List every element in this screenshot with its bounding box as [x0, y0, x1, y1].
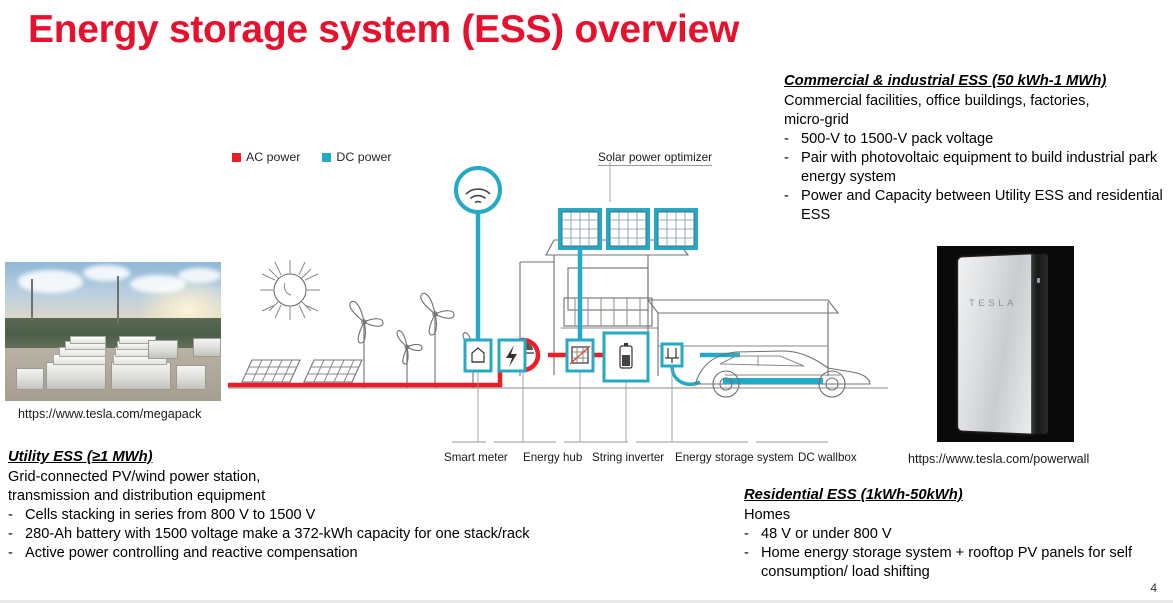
wifi-optimizer-icon — [456, 168, 500, 212]
bullet-text: Home energy storage system + rooftop PV … — [761, 544, 1144, 582]
battery-pack — [70, 336, 107, 344]
page-number: 4 — [1150, 581, 1157, 595]
transformer-unit — [176, 365, 206, 391]
cloud — [18, 270, 83, 292]
battery-pack — [111, 362, 171, 390]
bullet-text: 280-Ah battery with 1500 voltage make a … — [25, 525, 608, 544]
commercial-ess-block: Commercial & industrial ESS (50 kWh-1 MW… — [784, 72, 1173, 225]
utility-pole — [31, 279, 33, 321]
tesla-wordmark: TESLA — [969, 298, 1017, 309]
residential-ess-bullet: - 48 V or under 800 V — [744, 525, 1144, 544]
transformer-unit — [16, 368, 44, 391]
residential-ess-line: Homes — [744, 506, 1144, 525]
callout-dc-wallbox: DC wallbox — [798, 451, 857, 464]
bullet-text: Active power controlling and reactive co… — [25, 544, 608, 563]
utility-ess-heading: Utility ESS (≥1 MWh) — [8, 448, 608, 467]
powerwall-photo: TESLA — [937, 246, 1074, 442]
megapack-photo — [5, 262, 221, 401]
status-led — [1037, 278, 1040, 283]
transformer-unit — [148, 340, 178, 359]
battery-pack — [46, 362, 106, 390]
electric-car — [696, 351, 870, 397]
bullet-text: Pair with photovoltaic equipment to buil… — [801, 149, 1173, 187]
powerwall-caption: https://www.tesla.com/powerwall — [908, 452, 1089, 466]
utility-ess-line: transmission and distribution equipment — [8, 487, 608, 506]
commercial-ess-line: Commercial facilities, office buildings,… — [784, 92, 1173, 111]
energy-hub-icon — [465, 340, 491, 371]
dc-wallbox-icon — [662, 344, 682, 366]
commercial-ess-bullet: - Power and Capacity between Utility ESS… — [784, 187, 1173, 225]
callout-energy-storage-system: Energy storage system — [675, 451, 794, 464]
bullet-text: Power and Capacity between Utility ESS a… — [801, 187, 1173, 225]
string-inverter-icon — [499, 340, 525, 371]
bullet-marker: - — [784, 130, 793, 149]
bullet-text: 48 V or under 800 V — [761, 525, 1144, 544]
bullet-text: Cells stacking in series from 800 V to 1… — [25, 506, 608, 525]
utility-ess-line: Grid-connected PV/wind power station, — [8, 468, 608, 487]
cloud — [83, 265, 131, 282]
slide-canvas: Energy storage system (ESS) overview htt… — [0, 0, 1173, 603]
commercial-ess-bullet: - Pair with photovoltaic equipment to bu… — [784, 149, 1173, 187]
commercial-ess-line: micro-grid — [784, 111, 1173, 130]
bullet-marker: - — [8, 544, 17, 563]
energy-storage-unit — [604, 333, 648, 381]
sun-icon — [260, 260, 320, 320]
utility-ess-bullet: - 280-Ah battery with 1500 voltage make … — [8, 525, 608, 544]
bullet-marker: - — [744, 525, 753, 544]
transformer-unit — [193, 338, 221, 357]
residential-ess-heading: Residential ESS (1kWh-50kWh) — [744, 486, 1144, 505]
utility-pole — [117, 276, 119, 323]
utility-ess-bullet: - Cells stacking in series from 800 V to… — [8, 506, 608, 525]
bullet-marker: - — [8, 506, 17, 525]
powerwall-body — [958, 254, 1033, 433]
residential-ess-block: Residential ESS (1kWh-50kWh) Homes - 48 … — [744, 486, 1144, 582]
treeline — [5, 318, 221, 349]
residential-ess-bullet: - Home energy storage system + rooftop P… — [744, 544, 1144, 582]
pv-optimizer-icon — [567, 340, 593, 371]
commercial-ess-bullet: - 500-V to 1500-V pack voltage — [784, 130, 1173, 149]
bullet-text: 500-V to 1500-V pack voltage — [801, 130, 1173, 149]
bullet-marker: - — [784, 149, 793, 187]
cloud — [178, 268, 221, 283]
rooftop-solar-panels — [558, 208, 698, 250]
utility-ess-block: Utility ESS (≥1 MWh) Grid-connected PV/w… — [8, 448, 608, 563]
megapack-caption: https://www.tesla.com/megapack — [18, 407, 201, 421]
bullet-marker: - — [8, 525, 17, 544]
utility-ess-bullet: - Active power controlling and reactive … — [8, 544, 608, 563]
commercial-ess-heading: Commercial & industrial ESS (50 kWh-1 MW… — [784, 72, 1173, 91]
bullet-marker: - — [784, 187, 793, 225]
bullet-marker: - — [744, 544, 753, 582]
page-title: Energy storage system (ESS) overview — [28, 8, 739, 52]
